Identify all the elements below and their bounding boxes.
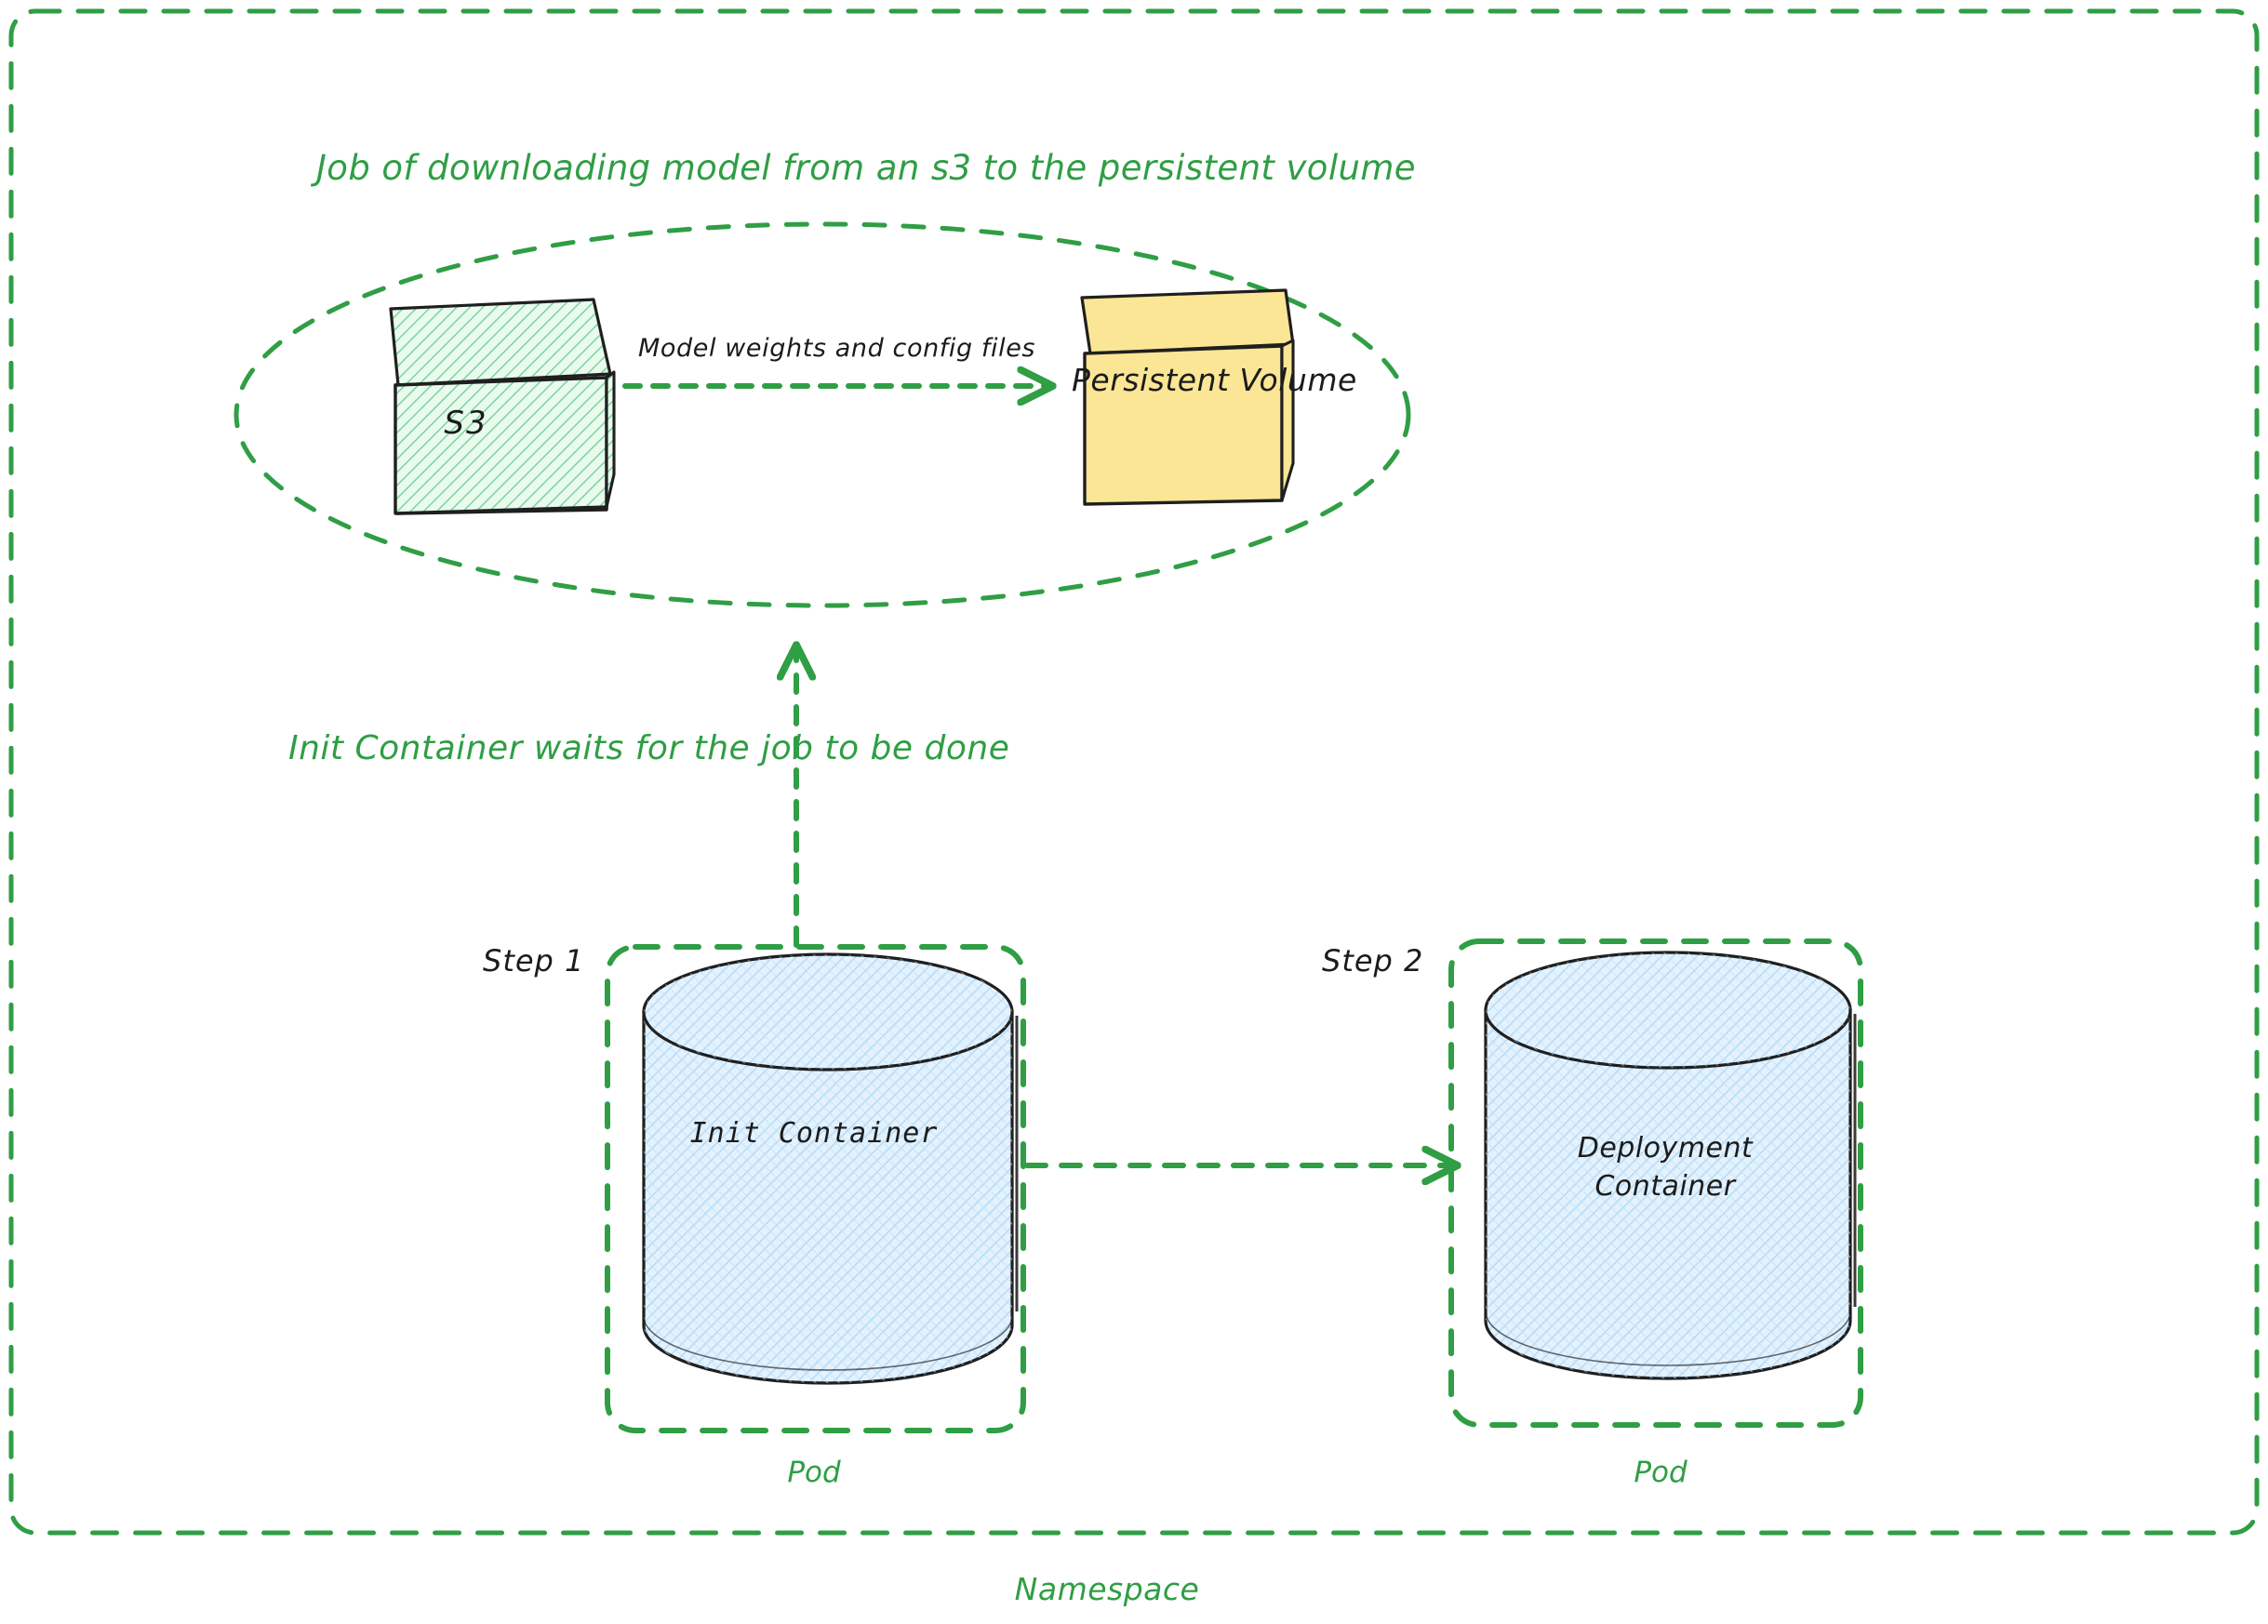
persistent-volume-label: Persistent Volume: [1072, 361, 1239, 399]
namespace-label: Namespace: [967, 1570, 1247, 1608]
diagram-shapes: [0, 0, 2268, 1624]
init-container-label: Init Container: [651, 1116, 977, 1151]
diagram-canvas: Job of downloading model from an s3 to t…: [0, 0, 2268, 1624]
job-title-label: Job of downloading model from an s3 to t…: [316, 147, 1416, 190]
pod-1-label: Pod: [735, 1455, 893, 1491]
deployment-container-label: DeploymentContainer: [1516, 1130, 1814, 1205]
namespace-boundary: [11, 11, 2257, 1533]
step-2-label: Step 2: [1322, 942, 1423, 979]
deployment-container-label-line2: Container: [1594, 1170, 1735, 1203]
s3-cube-label: S3: [410, 404, 522, 444]
init-container-cylinder: [644, 954, 1017, 1383]
transfer-arrow-label: Model weights and config files: [638, 333, 1035, 365]
init-wait-arrow-label: Init Container waits for the job to be d…: [288, 727, 781, 769]
deployment-container-label-line1: Deployment: [1578, 1132, 1754, 1165]
pod-2-label: Pod: [1581, 1455, 1740, 1491]
step-1-label: Step 1: [483, 942, 584, 979]
